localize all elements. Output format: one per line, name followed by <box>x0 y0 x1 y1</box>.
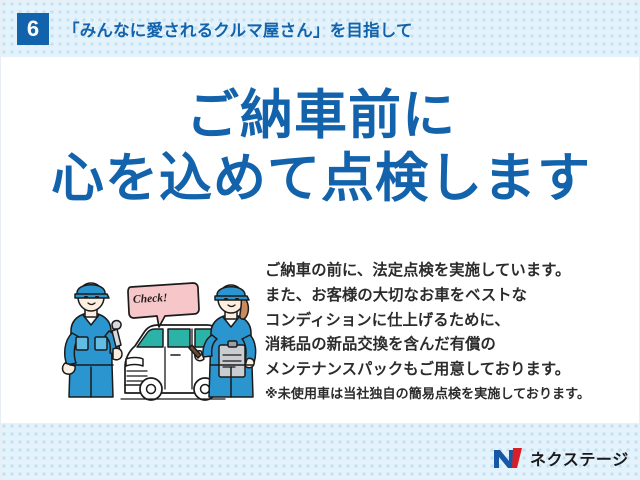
brand-logo: ネクステージ <box>493 445 629 471</box>
body-copy-line-1: ご納車の前に、法定点検を実施しています。 <box>265 259 625 284</box>
body-copy-line-2: また、お客様の大切なお車をベストな <box>265 284 625 309</box>
worker-male-figure <box>63 283 122 397</box>
mechanics-illustration <box>59 271 261 403</box>
body-copy: ご納車の前に、法定点検を実施しています。 また、お客様の大切なお車をベストな コ… <box>265 259 625 383</box>
promo-panel: 6 「みんなに愛されるクルマ屋さん」を目指して ご納車前に 心を込めて点検します <box>0 0 640 480</box>
step-number-badge: 6 <box>17 13 49 45</box>
body-copy-line-3: コンディションに仕上げるために、 <box>265 309 625 334</box>
header-title: 「みんなに愛されるクルマ屋さん」を目指して <box>63 17 413 41</box>
check-speech-bubble <box>128 283 199 327</box>
body-copy-line-4: 消耗品の新品交換を含んだ有償の <box>265 333 625 358</box>
nextage-n-mark-icon <box>493 447 523 469</box>
body-note: ※未使用車は当社独自の簡易点検を実施しております。 <box>265 383 631 402</box>
mechanics-illustration-svg <box>59 271 261 403</box>
headline-line-1: ご納車前に <box>1 85 640 148</box>
headline: ご納車前に 心を込めて点検します <box>1 85 640 210</box>
headline-line-2: 心を込めて点検します <box>1 148 640 211</box>
section-header: 6 「みんなに愛されるクルマ屋さん」を目指して <box>1 1 640 57</box>
brand-name: ネクステージ <box>530 446 629 470</box>
body-copy-line-5: メンテナンスパックもご用意しております。 <box>265 358 625 383</box>
